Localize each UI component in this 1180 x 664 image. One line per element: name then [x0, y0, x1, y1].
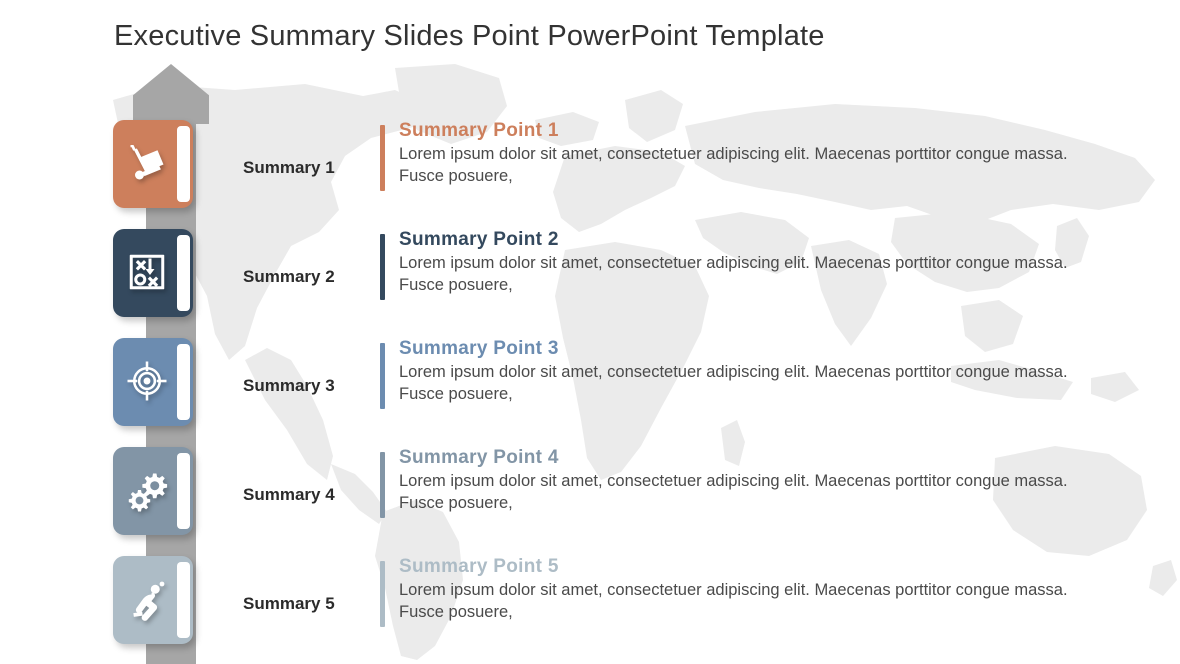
- page-title: Executive Summary Slides Point PowerPoin…: [114, 20, 825, 53]
- summary-accent-bar-4: [380, 452, 385, 518]
- summary-point-body-5: Lorem ipsum dolor sit amet, consectetuer…: [399, 580, 1079, 624]
- target-crosshair-icon: [123, 356, 171, 406]
- arrow-head-icon: [133, 64, 209, 124]
- summary-accent-bar-2: [380, 234, 385, 300]
- tile-spine: [177, 562, 190, 638]
- summary-row: Summary 2Summary Point 2Lorem ipsum dolo…: [0, 229, 1180, 337]
- summary-point-title-4: Summary Point 4: [399, 447, 1079, 469]
- summary-point-body-4: Lorem ipsum dolor sit amet, consectetuer…: [399, 471, 1079, 515]
- summary-accent-bar-3: [380, 343, 385, 409]
- hand-truck-icon: [123, 138, 171, 188]
- summary-text-block-2: Summary Point 2Lorem ipsum dolor sit ame…: [399, 229, 1079, 297]
- summary-side-label-3: Summary 3: [243, 376, 373, 396]
- summary-row: Summary 4Summary Point 4Lorem ipsum dolo…: [0, 447, 1180, 555]
- summary-point-body-3: Lorem ipsum dolor sit amet, consectetuer…: [399, 362, 1079, 406]
- summary-icon-tile-4[interactable]: [113, 447, 193, 535]
- summary-text-block-3: Summary Point 3Lorem ipsum dolor sit ame…: [399, 338, 1079, 406]
- summary-text-block-4: Summary Point 4Lorem ipsum dolor sit ame…: [399, 447, 1079, 515]
- summary-side-label-1: Summary 1: [243, 158, 373, 178]
- summary-icon-tile-5[interactable]: [113, 556, 193, 644]
- tile-spine: [177, 235, 190, 311]
- summary-accent-bar-5: [380, 561, 385, 627]
- summary-side-label-4: Summary 4: [243, 485, 373, 505]
- summary-point-title-5: Summary Point 5: [399, 556, 1079, 578]
- tile-spine: [177, 126, 190, 202]
- tile-spine: [177, 344, 190, 420]
- summary-icon-tile-3[interactable]: [113, 338, 193, 426]
- summary-side-label-2: Summary 2: [243, 267, 373, 287]
- gears-icon: [123, 465, 171, 515]
- summary-side-label-5: Summary 5: [243, 594, 373, 614]
- summary-icon-tile-2[interactable]: [113, 229, 193, 317]
- summary-row: Summary 1Summary Point 1Lorem ipsum dolo…: [0, 120, 1180, 228]
- summary-point-title-3: Summary Point 3: [399, 338, 1079, 360]
- runner-start-icon: [123, 574, 171, 624]
- summary-row: Summary 3Summary Point 3Lorem ipsum dolo…: [0, 338, 1180, 446]
- summary-accent-bar-1: [380, 125, 385, 191]
- summary-point-title-2: Summary Point 2: [399, 229, 1079, 251]
- strategy-board-icon: [123, 247, 171, 297]
- summary-point-body-1: Lorem ipsum dolor sit amet, consectetuer…: [399, 144, 1079, 188]
- tile-spine: [177, 453, 190, 529]
- summary-point-body-2: Lorem ipsum dolor sit amet, consectetuer…: [399, 253, 1079, 297]
- summary-icon-tile-1[interactable]: [113, 120, 193, 208]
- summary-text-block-5: Summary Point 5Lorem ipsum dolor sit ame…: [399, 556, 1079, 624]
- summary-point-title-1: Summary Point 1: [399, 120, 1079, 142]
- summary-text-block-1: Summary Point 1Lorem ipsum dolor sit ame…: [399, 120, 1079, 188]
- slide-canvas: Executive Summary Slides Point PowerPoin…: [0, 0, 1180, 664]
- summary-row: Summary 5Summary Point 5Lorem ipsum dolo…: [0, 556, 1180, 664]
